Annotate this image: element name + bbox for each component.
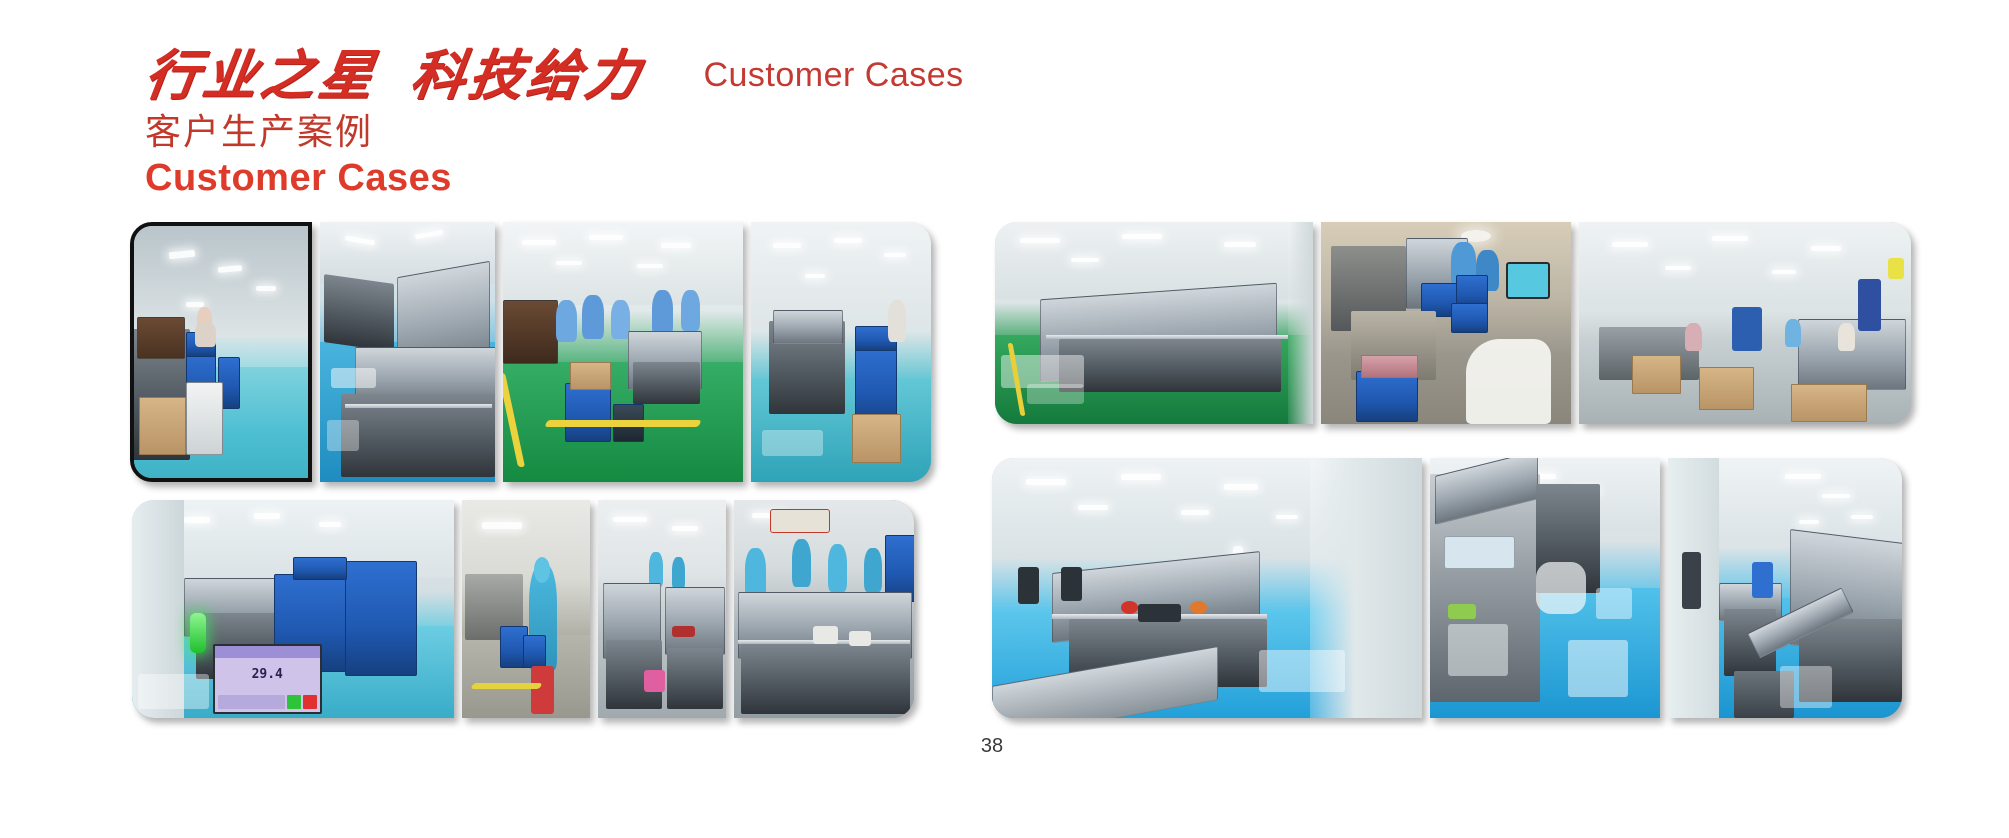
photo-cleanroom-aisle-ibc-tote[interactable] <box>130 222 312 482</box>
tower-light-green <box>190 613 206 653</box>
bottom-right-cluster <box>992 458 1902 718</box>
photo-automatic-assembly-machines[interactable] <box>598 500 726 718</box>
hmi-value: 29.4 <box>252 667 283 682</box>
photo-green-floor-machine-row[interactable] <box>995 222 1313 424</box>
top-left-cluster <box>130 222 931 482</box>
photo-operator-workbench[interactable] <box>462 500 590 718</box>
hmi-panel[interactable]: 29.4 <box>213 644 322 714</box>
page-number: 38 <box>0 735 2009 758</box>
photo-warehouse-line-cartons[interactable] <box>1579 222 1911 424</box>
photo-workers-machine-line[interactable] <box>734 500 914 718</box>
title-english-light: Customer Cases <box>703 56 963 95</box>
calligraphy-part-1: 行业之星 <box>141 43 382 107</box>
photo-machine-cabinets-corridor[interactable] <box>1430 458 1660 718</box>
title-row: 行业之星科技给力 Customer Cases <box>145 48 1245 102</box>
page-number-value: 38 <box>981 735 1003 758</box>
photo-corridor-conveyor-machines[interactable] <box>992 458 1422 718</box>
top-right-cluster <box>995 222 1911 424</box>
photo-assembly-line-blue-floor[interactable] <box>320 222 495 482</box>
calligraphy-title: 行业之星科技给力 <box>141 48 647 102</box>
photo-packing-station-blue-bins[interactable] <box>1321 222 1571 424</box>
subtitle-english: Customer Cases <box>145 157 1245 201</box>
photo-green-floor-workers-line[interactable] <box>503 222 743 482</box>
photo-tower-light-hmi-machine[interactable]: 29.4 <box>132 500 454 718</box>
title-block: 行业之星科技给力 Customer Cases 客户生产案例 Customer … <box>145 48 1245 201</box>
photo-blue-hall-inclined-conveyor[interactable] <box>1668 458 1902 718</box>
bottom-left-cluster: 29.4 <box>132 500 914 718</box>
calligraphy-part-2: 科技给力 <box>407 43 648 107</box>
subtitle-chinese: 客户生产案例 <box>145 112 1245 153</box>
photo-long-hall-blue-crates[interactable] <box>751 222 931 482</box>
